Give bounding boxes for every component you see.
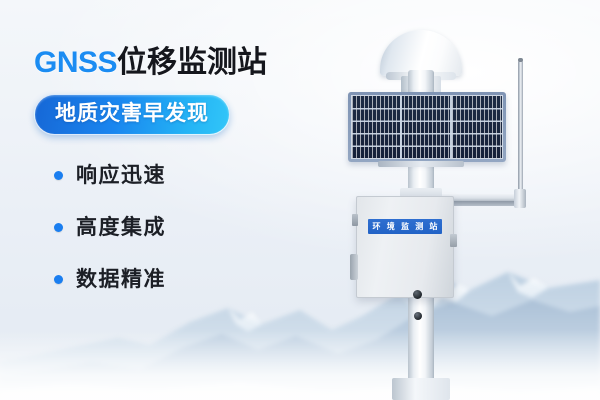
whip-antenna-rod-icon bbox=[518, 60, 523, 194]
headline-suffix: 位移监测站 bbox=[117, 46, 267, 79]
feature-label: 响应迅速 bbox=[76, 165, 166, 186]
list-item: 响应迅速 bbox=[34, 163, 344, 187]
enclosure-label: 环 境 监 测 站 bbox=[368, 219, 442, 234]
bullet-dot-icon bbox=[54, 171, 63, 180]
monitoring-station-device: 环 境 监 测 站 bbox=[330, 18, 590, 400]
enclosure-latch-left bbox=[352, 214, 358, 226]
feature-label: 数据精准 bbox=[76, 269, 166, 290]
headline-brand: GNSS bbox=[34, 46, 117, 79]
enclosure-hinge bbox=[350, 254, 358, 280]
feature-label: 高度集成 bbox=[76, 217, 166, 238]
pole-bolt bbox=[414, 312, 422, 320]
list-item: 数据精准 bbox=[34, 267, 344, 291]
marketing-text-column: GNSS位移监测站 地质灾害早发现 响应迅速 高度集成 数据精准 bbox=[34, 48, 344, 307]
enclosure-latch-right bbox=[450, 234, 457, 247]
solar-panel-mount bbox=[378, 161, 464, 167]
solar-panel-icon bbox=[348, 92, 506, 162]
bullet-dot-icon bbox=[54, 223, 63, 232]
antenna-tip-icon bbox=[518, 58, 523, 62]
bracket-arm-underside bbox=[442, 201, 524, 206]
feature-list: 响应迅速 高度集成 数据精准 bbox=[34, 163, 344, 291]
pole-bolt-lower bbox=[413, 290, 422, 299]
list-item: 高度集成 bbox=[34, 215, 344, 239]
pole-base bbox=[392, 378, 450, 400]
antenna-clamp bbox=[514, 189, 526, 208]
page-title: GNSS位移监测站 bbox=[34, 48, 344, 78]
status-badge: 地质灾害早发现 bbox=[34, 94, 230, 135]
gnss-monitoring-station-banner: 环 境 监 测 站 GNSS位移监测站 地质灾害早发现 响应迅速 高度集成 数据… bbox=[0, 0, 600, 400]
solar-cells bbox=[351, 95, 503, 159]
bullet-dot-icon bbox=[54, 275, 63, 284]
enclosure-box bbox=[356, 196, 454, 298]
